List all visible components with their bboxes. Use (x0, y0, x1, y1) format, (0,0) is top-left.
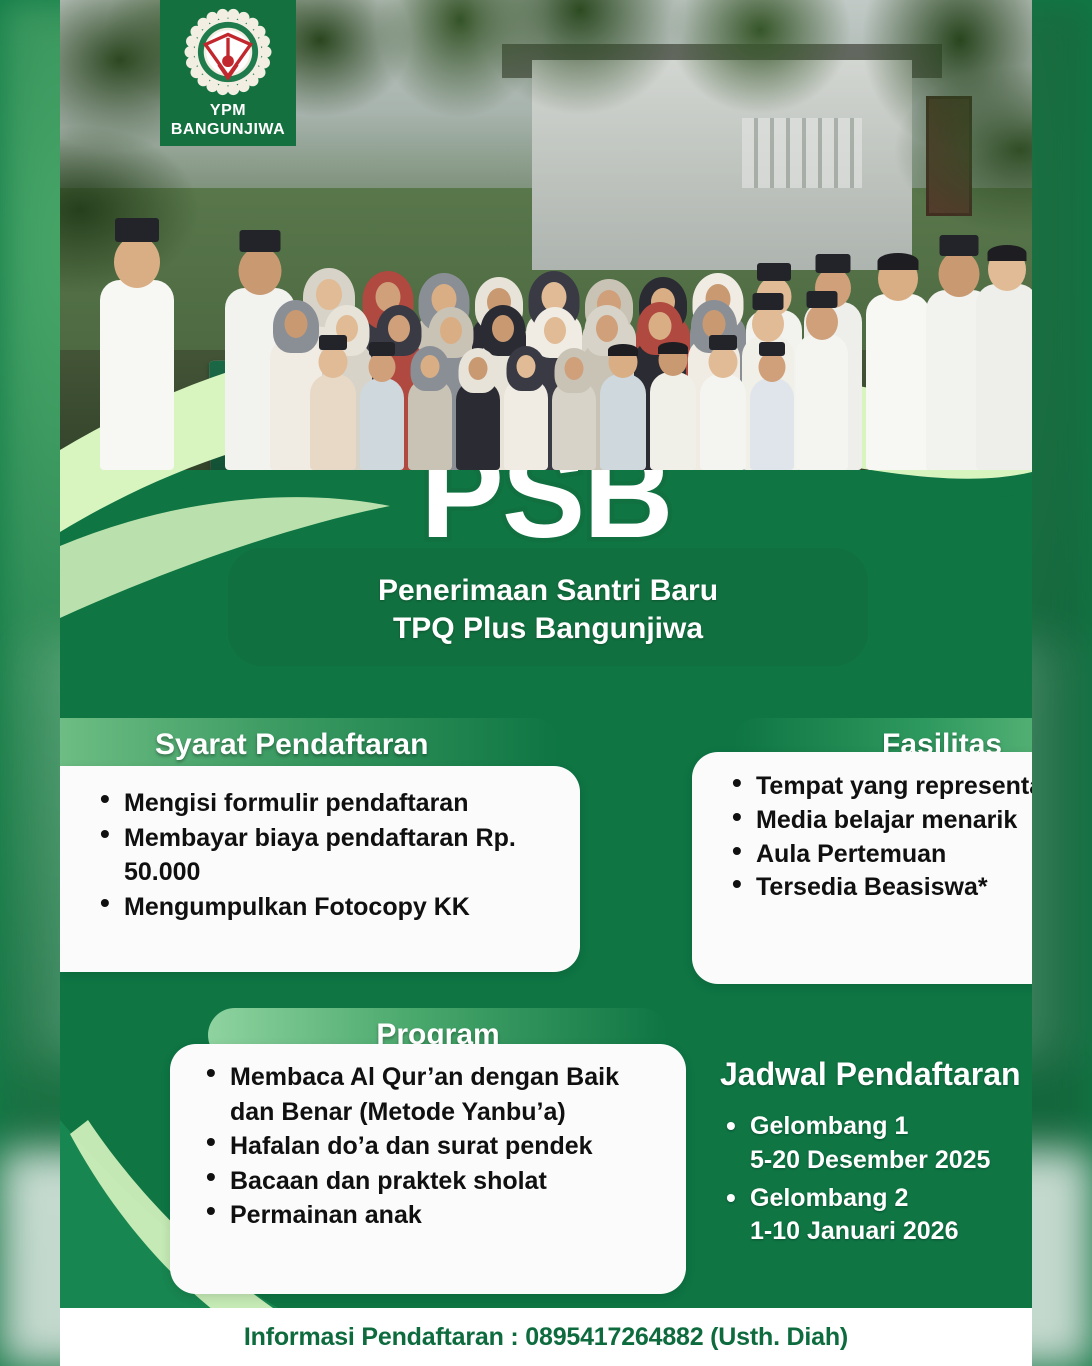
photo-person (456, 380, 500, 470)
list-item: Tersedia Beasiswa* (726, 871, 1032, 905)
photo-person (552, 380, 596, 470)
subtitle-line2: TPQ Plus Bangunjiwa (228, 610, 868, 648)
photo-person (600, 374, 646, 470)
syarat-heading: Syarat Pendaftaran (155, 728, 428, 762)
photo-person-face (649, 312, 672, 340)
jadwal-label: Gelombang 2 (750, 1184, 908, 1212)
photo-person (866, 294, 930, 470)
list-item: Gelombang 2 1-10 Januari 2026 (720, 1182, 1032, 1250)
photo-person-head (806, 304, 838, 340)
photo-person (750, 378, 794, 470)
photo-person-cap (807, 291, 838, 308)
subtitle: Penerimaan Santri Baru TPQ Plus Bangunji… (228, 572, 868, 649)
photo-person-cap (240, 230, 281, 252)
syarat-list: Mengisi formulir pendaftaran Membayar bi… (94, 786, 554, 924)
list-item: Tempat yang representatif (726, 770, 1032, 804)
photo-person-head (369, 352, 396, 382)
photo-person-face (421, 355, 440, 378)
photo-person (310, 374, 356, 470)
program-card: Membaca Al Qur’an dengan Baik dan Benar … (170, 1044, 686, 1294)
photo-person-cap (940, 235, 979, 256)
photo-person-hair (988, 245, 1027, 261)
photo-person (976, 284, 1032, 470)
photo-person (700, 374, 746, 470)
fasilitas-card: Tempat yang representatif Media belajar … (692, 752, 1032, 984)
photo-person-head (239, 247, 282, 295)
photo-person (504, 378, 548, 470)
list-item: Hafalan do’a dan surat pendek (200, 1129, 670, 1164)
fasilitas-list: Tempat yang representatif Media belajar … (726, 770, 1032, 905)
photo-person-face (517, 355, 536, 378)
photo-person-face (544, 317, 566, 344)
photo-person-face (492, 315, 514, 342)
list-item: Aula Pertemuan (726, 838, 1032, 872)
photo-person-face (388, 315, 410, 342)
footer-bar: Informasi Pendaftaran : 0895417264882 (U… (60, 1308, 1032, 1366)
photo-person-head (319, 346, 348, 378)
list-item: Mengisi formulir pendaftaran (94, 786, 554, 821)
photo-person-hair (608, 344, 638, 356)
poster-canvas: MADRASAH DINIYAH TAKMILIYAH NGUDI LUHUR … (60, 0, 1032, 1366)
list-item: Permainan anak (200, 1198, 670, 1233)
list-item: Membayar biaya pendaftaran Rp. 50.000 (94, 821, 554, 890)
jadwal-dates: 1-10 Januari 2026 (750, 1215, 1032, 1249)
program-list: Membaca Al Qur’an dengan Baik dan Benar … (200, 1060, 670, 1233)
photo-person-cap (709, 335, 737, 350)
photo-person-head (709, 346, 738, 378)
photo-person-cap (753, 293, 784, 310)
photo-person (650, 372, 696, 470)
photo-person-head (939, 251, 980, 297)
list-item: Membaca Al Qur’an dengan Baik dan Benar … (200, 1060, 670, 1129)
photo-person-face (316, 279, 342, 310)
jadwal-heading: Jadwal Pendaftaran (720, 1056, 1021, 1093)
contact-info: Informasi Pendaftaran : 0895417264882 (U… (244, 1323, 848, 1352)
photo-person-cap (115, 218, 159, 242)
jadwal-dates: 5-20 Desember 2025 (750, 1144, 1032, 1178)
photo-person-cap (369, 342, 395, 356)
photo-person-face (565, 357, 584, 380)
photo-person (360, 378, 404, 470)
organization-badge: YPM BANGUNJIWA (160, 0, 296, 146)
syarat-heading-band: Syarat Pendaftaran (60, 718, 560, 772)
photo-person-cap (757, 263, 791, 281)
photo-person-face (440, 317, 462, 344)
list-item: Mengumpulkan Fotocopy KK (94, 890, 554, 925)
syarat-card: Mengisi formulir pendaftaran Membayar bi… (60, 766, 580, 972)
jadwal-list: Gelombang 1 5-20 Desember 2025 Gelombang… (720, 1110, 1032, 1253)
photo-person (408, 378, 452, 470)
ypm-emblem-icon (173, 6, 283, 98)
list-item: Bacaan dan praktek sholat (200, 1164, 670, 1199)
badge-line-2: BANGUNJIWA (171, 121, 285, 140)
photo-person-head (114, 236, 160, 288)
list-item: Media belajar menarik (726, 804, 1032, 838)
photo-person-hair (658, 342, 688, 354)
photo-person-head (752, 306, 784, 342)
photo-person-face (703, 310, 726, 338)
photo-person-face (469, 357, 488, 380)
list-item: Gelombang 1 5-20 Desember 2025 (720, 1110, 1032, 1178)
photo-person-head (759, 352, 786, 382)
jadwal-label: Gelombang 1 (750, 1112, 908, 1140)
photo-person-cap (816, 254, 851, 273)
photo-person (796, 334, 848, 470)
photo-person-hair (878, 253, 919, 270)
photo-person-cap (319, 335, 347, 350)
subtitle-line1: Penerimaan Santri Baru (228, 572, 868, 610)
photo-person (100, 280, 174, 470)
photo-person-cap (759, 342, 785, 356)
photo-person-face (285, 310, 308, 338)
photo-person-face (596, 315, 618, 342)
badge-line-1: YPM (210, 102, 246, 121)
